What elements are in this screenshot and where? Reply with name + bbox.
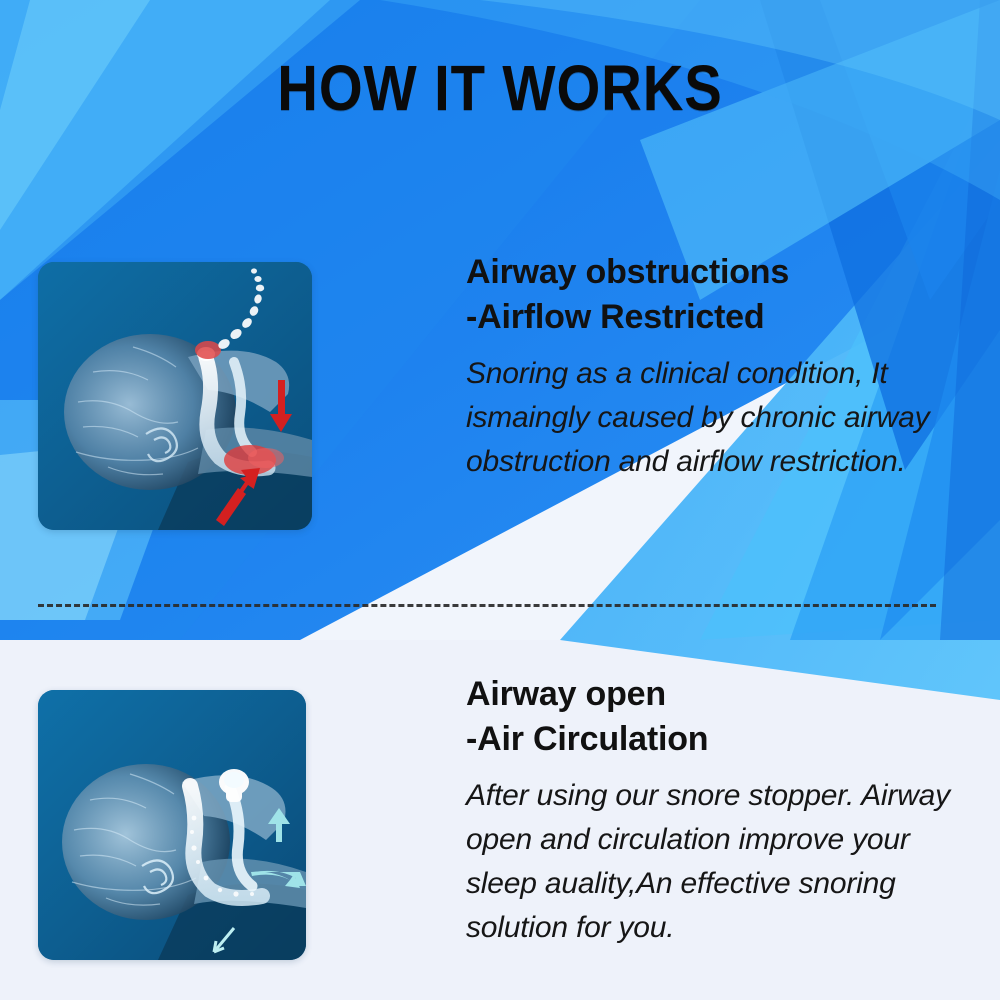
- section-headline: Airway obstructions -Airflow Restricted: [466, 250, 966, 340]
- headline-line-1: Airway open: [466, 672, 966, 717]
- airway-open-illustration: [38, 690, 306, 960]
- how-it-works-infographic: HOW IT WORKS: [0, 0, 1000, 1000]
- headline-line-1: Airway obstructions: [466, 250, 966, 295]
- page-title: HOW IT WORKS: [60, 56, 940, 120]
- section-divider: [38, 604, 936, 607]
- section-text-airway-obstructions: Airway obstructions -Airflow Restricted …: [466, 250, 966, 484]
- headline-line-2: -Air Circulation: [466, 717, 966, 762]
- airway-obstruction-illustration: [38, 262, 312, 530]
- section-body-text: After using our snore stopper. Airway op…: [466, 774, 966, 950]
- headline-line-2: -Airflow Restricted: [466, 295, 966, 340]
- section-headline: Airway open -Air Circulation: [466, 672, 966, 762]
- section-text-airway-open: Airway open -Air Circulation After using…: [466, 672, 966, 950]
- section-body-text: Snoring as a clinical condition, It isma…: [466, 352, 966, 484]
